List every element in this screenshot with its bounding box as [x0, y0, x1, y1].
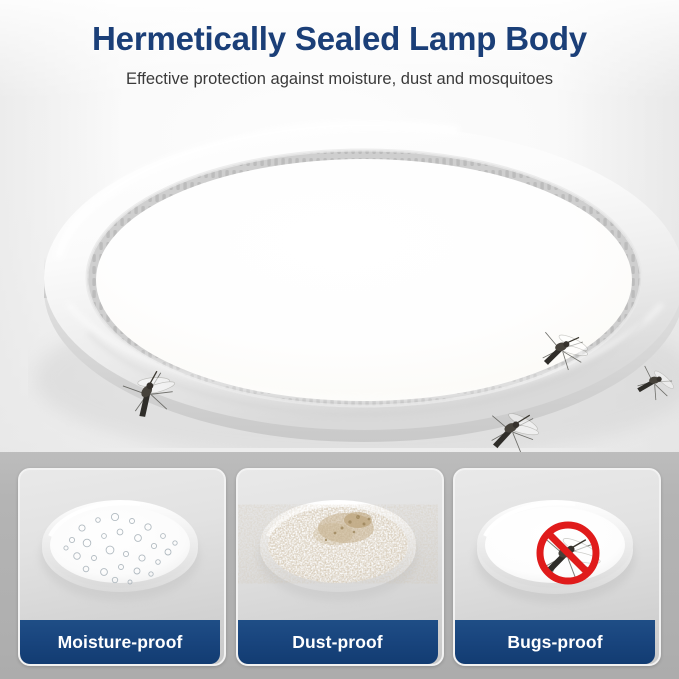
panel-label-bugs: Bugs-proof — [455, 620, 655, 664]
panel-label-moisture: Moisture-proof — [20, 620, 220, 664]
water-droplets-on-lamp-icon — [20, 470, 220, 620]
main-lamp-illustration — [28, 108, 679, 448]
feature-panel-bugs[interactable]: Bugs-proof — [453, 468, 661, 666]
panel-label-dust: Dust-proof — [238, 620, 438, 664]
feature-panel-moisture[interactable]: Moisture-proof — [18, 468, 226, 666]
feature-panels-section: Moisture-proof — [0, 452, 679, 679]
hero-section: Hermetically Sealed Lamp Body Effective … — [0, 0, 679, 452]
page-title: Hermetically Sealed Lamp Body — [0, 20, 679, 58]
page-subtitle: Effective protection against moisture, d… — [0, 70, 679, 89]
mosquito-prohibition-sign-icon — [455, 470, 655, 620]
product-feature-image: Hermetically Sealed Lamp Body Effective … — [0, 0, 679, 679]
feature-panels-row: Moisture-proof — [18, 468, 661, 664]
feature-panel-dust[interactable]: Dust-proof — [236, 468, 444, 666]
dust-particles-on-lamp-icon — [238, 470, 438, 620]
lamp-diffuser — [96, 159, 632, 401]
